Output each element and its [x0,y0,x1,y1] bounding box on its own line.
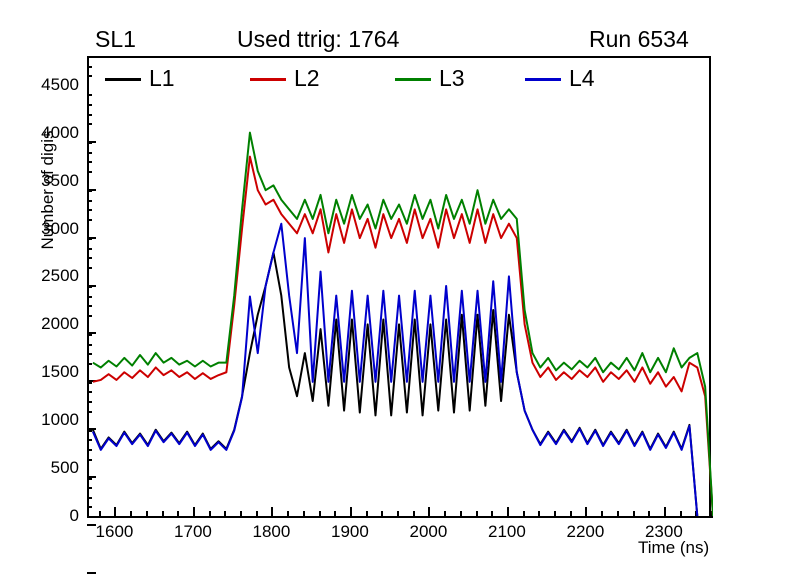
y-tick-label: 3500 [0,171,79,191]
x-tick-label: 1600 [84,522,144,542]
legend-label: L1 [149,62,175,94]
legend-swatch-l2 [250,78,286,81]
legend-label: L2 [294,62,320,94]
y-tick-label: 4500 [0,75,79,95]
legend-label: L3 [439,62,465,94]
y-tick-label: 1000 [0,410,79,430]
x-tick-label: 1900 [320,522,380,542]
y-tick-label: 2500 [0,266,79,286]
x-tick-label: 2100 [477,522,537,542]
title-left: SL1 [95,26,136,53]
series-line-l1 [93,252,697,516]
plot-area [87,56,713,518]
x-tick-label: 2000 [398,522,458,542]
y-tick-label: 1500 [0,362,79,382]
y-tick-label: 500 [0,458,79,478]
series-line-l3 [93,133,713,516]
chart-canvas: SL1 Used ttrig: 1764 Run 6534 Number of … [0,0,796,572]
legend-swatch-l3 [395,78,431,81]
legend-label: L4 [569,62,595,94]
y-tick-label: 4000 [0,123,79,143]
legend-swatch-l4 [525,78,561,81]
series-svg [89,56,713,516]
x-tick-label: 2300 [634,522,694,542]
legend: L1L2L3L4 [105,62,585,96]
y-tick-label: 3000 [0,219,79,239]
x-tick-label: 1800 [241,522,301,542]
x-tick-label: 1700 [163,522,223,542]
title-right: Run 6534 [589,26,689,53]
legend-swatch-l1 [105,78,141,81]
y-tick-label: 0 [0,506,79,526]
y-tick-label: 2000 [0,314,79,334]
title-center: Used ttrig: 1764 [237,26,399,53]
x-tick-label: 2200 [555,522,615,542]
